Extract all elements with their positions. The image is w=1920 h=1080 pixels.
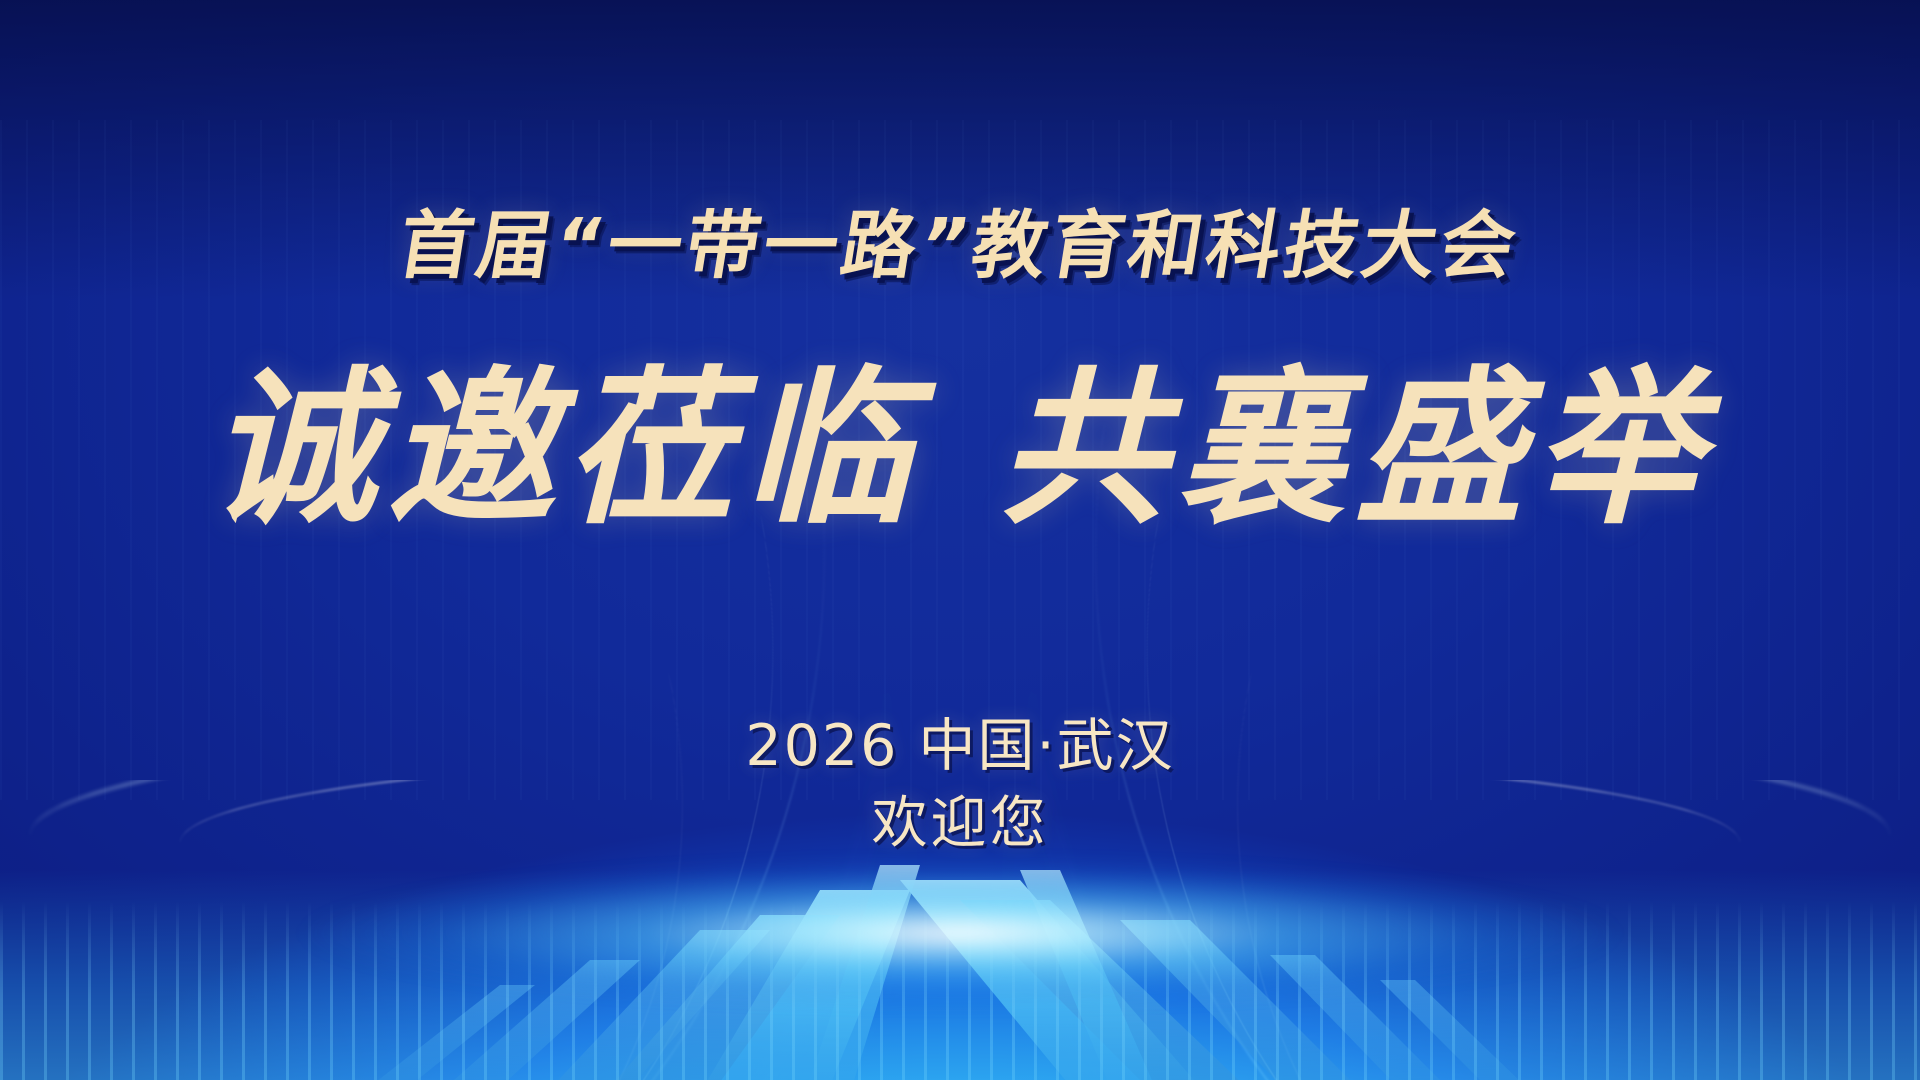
poster-canvas: 首届“一带一路”教育和科技大会 诚邀莅临共襄盛举 2026 中国·武汉 欢迎您 — [0, 0, 1920, 1080]
slogan-left: 诚邀莅临 — [209, 349, 921, 547]
conference-title: 首届“一带一路”教育和科技大会 — [0, 186, 1920, 293]
slogan-calligraphy: 诚邀莅临共襄盛举 — [0, 356, 1920, 541]
year-city-line: 2026 中国·武汉 — [0, 700, 1920, 782]
slogan-right: 共襄盛举 — [999, 349, 1711, 547]
welcome-line: 欢迎您 — [0, 778, 1920, 859]
poster-content: 首届“一带一路”教育和科技大会 诚邀莅临共襄盛举 2026 中国·武汉 欢迎您 — [0, 0, 1920, 1080]
